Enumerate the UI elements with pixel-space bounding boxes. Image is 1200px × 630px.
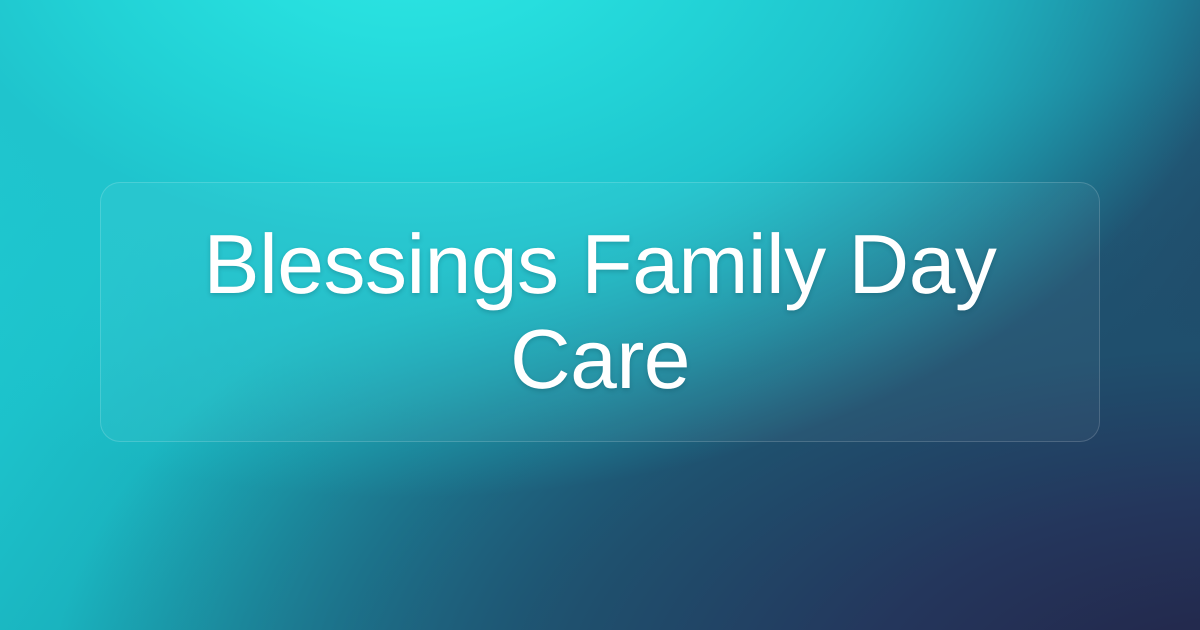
og-image-canvas: Blessings Family Day Care [0, 0, 1200, 630]
page-title: Blessings Family Day Care [135, 217, 1065, 407]
hero-card: Blessings Family Day Care [100, 182, 1100, 442]
